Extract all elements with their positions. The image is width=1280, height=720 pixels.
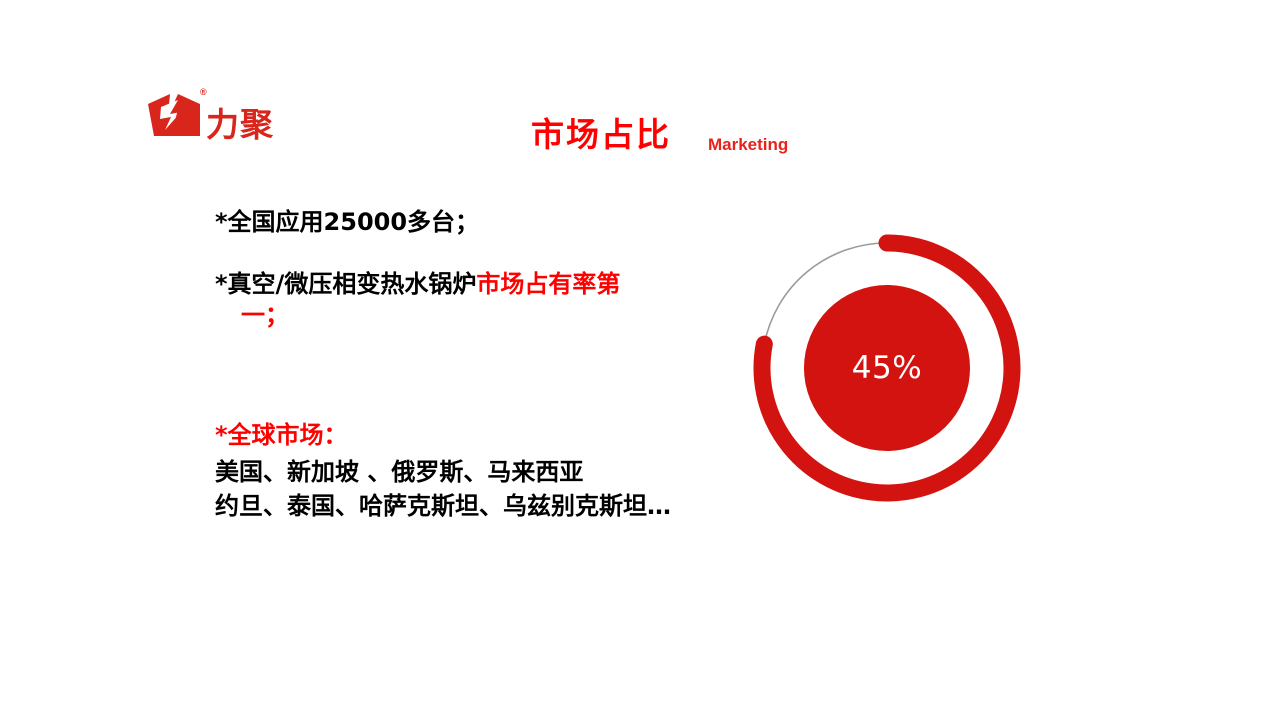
slide: ® 力聚 市场占比 Marketing *全国应用25000多台； *真空/微压…	[0, 0, 1280, 720]
bullet-list: *全国应用25000多台； *真空/微压相变热水锅炉市场占有率第一；	[215, 207, 715, 362]
brand-name: 力聚	[206, 98, 274, 146]
global-market-line-1: 美国、新加坡 、俄罗斯、马来西亚	[215, 455, 775, 489]
bullet-item-2: *真空/微压相变热水锅炉市场占有率第一；	[215, 269, 715, 332]
brand-logo: ® 力聚	[148, 88, 268, 144]
bullet-highlight-2: 市场占有率第	[476, 270, 620, 298]
market-share-donut-chart: 45%	[752, 233, 1022, 503]
bullet-text-1: *全国应用25000多台；	[215, 208, 479, 236]
bullet-text-2: *真空/微压相变热水锅炉	[215, 270, 476, 298]
page-title: 市场占比	[531, 108, 671, 156]
donut-center-disc	[804, 285, 970, 451]
global-market-block: *全球市场： 美国、新加坡 、俄罗斯、马来西亚 约旦、泰国、哈萨克斯坦、乌兹别克…	[215, 420, 775, 523]
donut-svg	[752, 233, 1022, 503]
bullet-item-1: *全国应用25000多台；	[215, 207, 715, 239]
bullet-tail-2: 一；	[215, 300, 715, 332]
global-market-line-2: 约旦、泰国、哈萨克斯坦、乌兹别克斯坦…	[215, 489, 775, 523]
registered-mark: ®	[200, 88, 207, 97]
lightning-bolt-logo-icon	[148, 92, 204, 138]
global-market-heading: *全球市场：	[215, 420, 775, 451]
page-subtitle: Marketing	[708, 135, 788, 155]
